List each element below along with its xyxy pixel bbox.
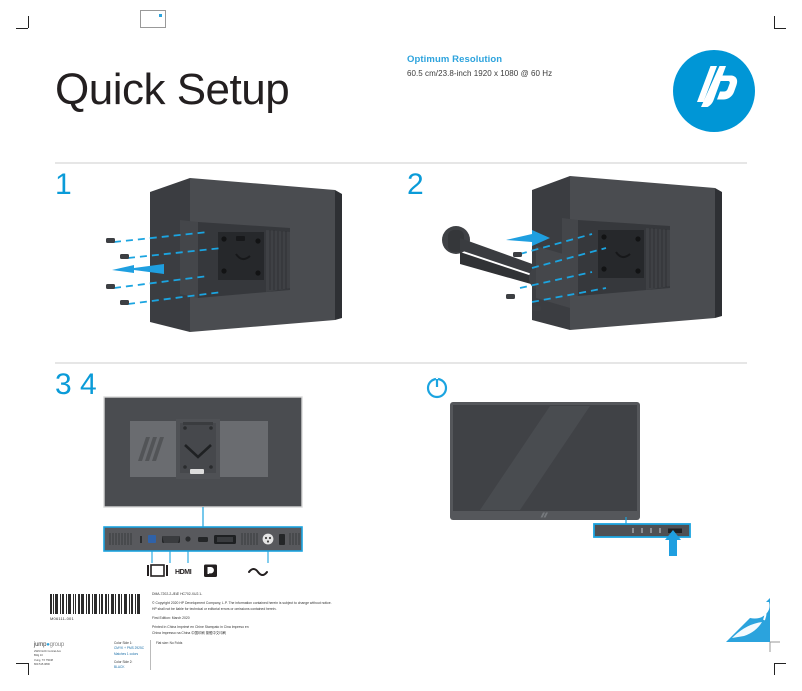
step-number-3: 3 [55, 370, 72, 400]
vendor-name: jump●group [34, 642, 64, 648]
spec-divider [150, 640, 151, 670]
monitor-rear-1 [150, 178, 342, 332]
step-3-illustration [100, 393, 310, 583]
step-2-illustration [420, 168, 750, 353]
port-icon-row: HDMI [145, 563, 305, 581]
legal-block: DMA-7202-2-ÆÆ HC702-XU2.1- © Copyright 2… [152, 592, 347, 637]
print-spec-block: jump●group 2929 North Central Ave Bldg 1… [34, 640, 214, 676]
optimum-resolution-heading: Optimum Resolution [407, 54, 552, 65]
monitor-front [450, 402, 640, 520]
legal-line-5: China Impresso na China 中国印刷 繁體中文印刷 [152, 631, 347, 637]
hp-logo-icon [673, 50, 755, 132]
document-header: Quick Setup Optimum Resolution 60.5 cm/2… [55, 42, 755, 152]
step-1-illustration [90, 170, 360, 350]
color-spec: Color Side 1: CMYK + PMS 2925C Matches 1… [114, 641, 144, 670]
optimum-resolution-spec: 60.5 cm/23.8-inch 1920 x 1080 @ 60 Hz [407, 69, 552, 78]
flat-size-spec: Flat size: No Folds [156, 641, 182, 645]
step-4-illustration [440, 396, 760, 576]
hp-logo [673, 50, 755, 132]
port-callout-leaders [152, 551, 268, 563]
ac-power-icon [249, 569, 267, 575]
flat-size-label: Flat size: No Folds [156, 641, 182, 645]
barcode [50, 594, 140, 614]
part-number: M06111-001 [50, 616, 74, 621]
monitor-rear-2 [532, 176, 722, 330]
vendor-address: 2929 North Central Ave Bldg 10 Irving, T… [34, 650, 64, 668]
vga-icon [147, 565, 168, 576]
vendor-logo: jump●group 2929 North Central Ave Bldg 1… [34, 642, 64, 668]
flat-size-swatch [140, 10, 166, 28]
divider-rule-1 [55, 162, 747, 164]
page-title: Quick Setup [55, 68, 289, 112]
direction-arrow-1 [112, 264, 164, 274]
optimum-resolution-block: Optimum Resolution 60.5 cm/23.8-inch 192… [407, 54, 552, 78]
hdmi-icon: HDMI [175, 569, 192, 576]
displayport-icon [204, 565, 217, 578]
color-side1-value: CMYK + PMS 2925C Matches 1 colors [114, 646, 144, 657]
step-number-4: 4 [80, 370, 97, 400]
corner-flag-graphic [724, 596, 786, 652]
step-number-1: 1 [55, 170, 72, 200]
svg-text:HDMI: HDMI [175, 569, 192, 576]
monitor-back-flat [104, 397, 302, 507]
divider-rule-2 [55, 362, 747, 364]
color-side2-value: BLACK [114, 665, 144, 670]
port-strip [104, 527, 302, 551]
